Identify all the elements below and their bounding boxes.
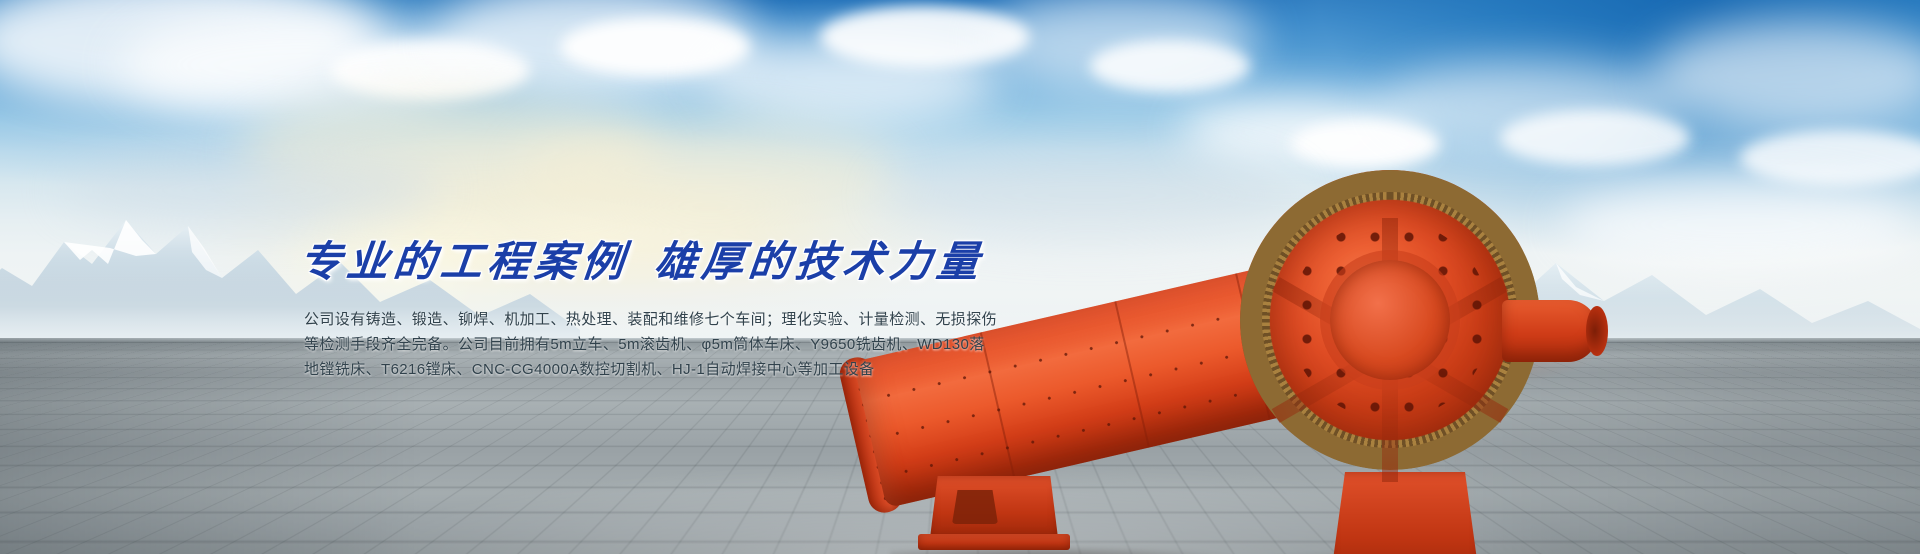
support-leg-cutout [952, 490, 998, 524]
hero-banner: 专业的工程案例雄厚的技术力量 公司设有铸造、锻造、铆焊、机加工、热处理、装配和维… [0, 0, 1920, 554]
ring-gear-assembly [1240, 170, 1540, 470]
discharge-nozzle [1502, 300, 1598, 362]
support-leg-rear [1330, 472, 1480, 554]
description-line-2: 等检测手段齐全完备。公司目前拥有5m立车、5m滚齿机、φ5m筒体车床、Y9650… [304, 332, 1004, 357]
banner-headline: 专业的工程案例雄厚的技术力量 [297, 228, 1063, 289]
headline-part-1: 专业的工程案例 [297, 237, 631, 286]
banner-description: 公司设有铸造、锻造、铆焊、机加工、热处理、装配和维修七个车间；理化实验、计量检测… [304, 307, 1004, 382]
gear-hub [1330, 260, 1450, 380]
support-base-front [918, 534, 1070, 550]
description-line-3: 地镗铣床、T6216镗床、CNC-CG4000A数控切割机、HJ-1自动焊接中心… [304, 357, 1004, 382]
headline-part-2: 雄厚的技术力量 [652, 237, 986, 286]
banner-copy: 专业的工程案例雄厚的技术力量 公司设有铸造、锻造、铆焊、机加工、热处理、装配和维… [300, 228, 1060, 382]
description-line-1: 公司设有铸造、锻造、铆焊、机加工、热处理、装配和维修七个车间；理化实验、计量检测… [304, 307, 1004, 332]
cloud [1090, 40, 1250, 92]
